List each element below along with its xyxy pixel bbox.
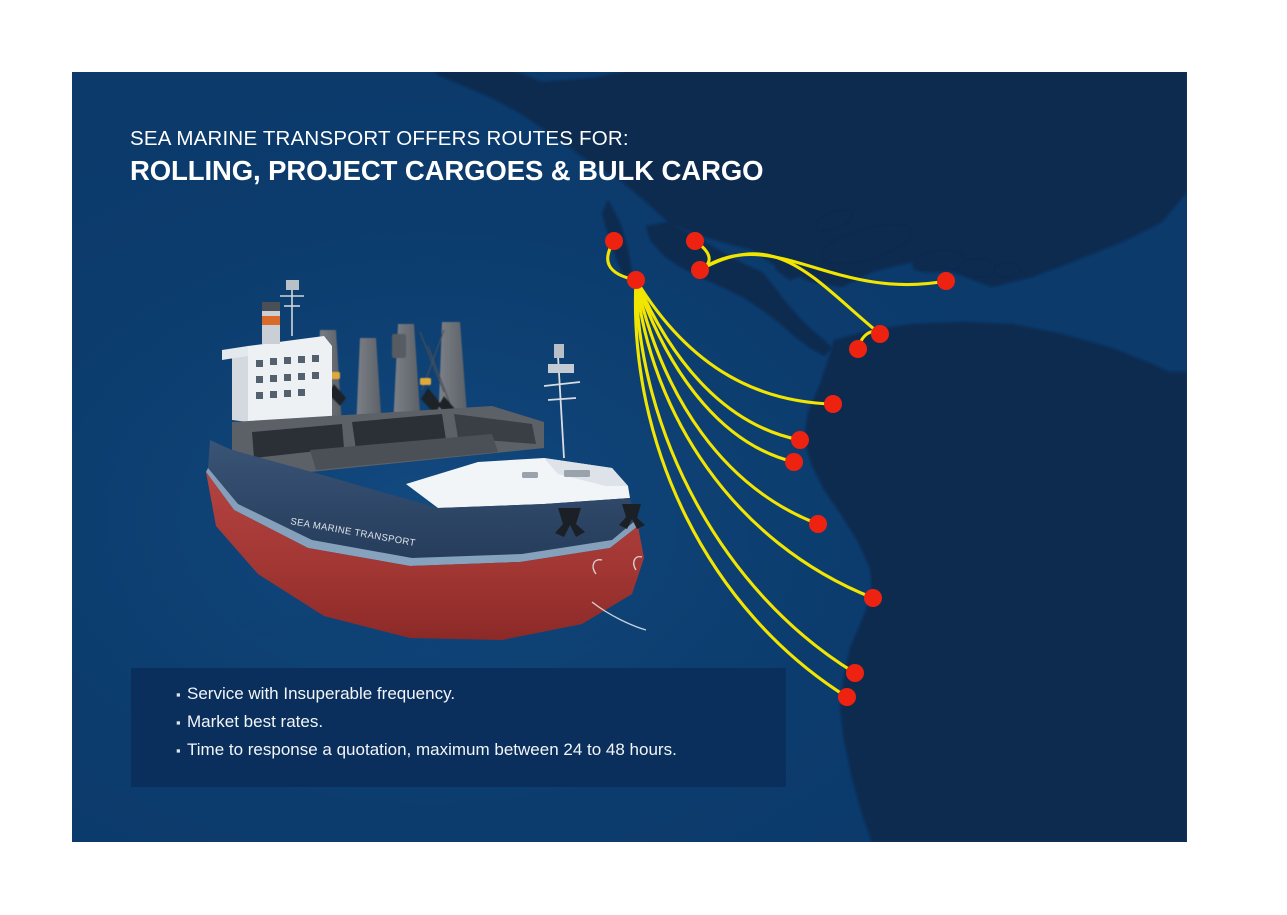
ship-illustration: SEA MARINE TRANSPORT [192, 272, 652, 692]
port-venezuela-east[interactable] [871, 325, 889, 343]
list-item: ▪ Market best rates. [176, 713, 677, 730]
list-item: ▪ Service with Insuperable frequency. [176, 685, 677, 702]
bullet-glyph-icon: ▪ [176, 716, 187, 729]
bullet-glyph-icon: ▪ [176, 688, 187, 701]
feature-text: Time to response a quotation, maximum be… [187, 741, 677, 758]
title-block: SEA MARINE TRANSPORT OFFERS ROUTES FOR: … [130, 126, 763, 187]
port-chile-central[interactable] [838, 688, 856, 706]
port-chile-north[interactable] [846, 664, 864, 682]
feature-text: Market best rates. [187, 713, 323, 730]
poster-canvas: SEA MARINE TRANSPORT SEA MARINE TRANSPOR… [0, 0, 1287, 915]
port-peru-central[interactable] [809, 515, 827, 533]
features-box: ▪ Service with Insuperable frequency. ▪ … [131, 668, 786, 787]
headline-text: ROLLING, PROJECT CARGOES & BULK CARGO [130, 154, 763, 188]
bullet-glyph-icon: ▪ [176, 744, 187, 757]
kicker-text: SEA MARINE TRANSPORT OFFERS ROUTES FOR: [130, 126, 763, 152]
port-ecuador-north[interactable] [824, 395, 842, 413]
main-panel: SEA MARINE TRANSPORT SEA MARINE TRANSPOR… [72, 72, 1187, 842]
port-gulf-north[interactable] [686, 232, 704, 250]
port-peru-north[interactable] [785, 453, 803, 471]
port-peru-south[interactable] [864, 589, 882, 607]
features-list: ▪ Service with Insuperable frequency. ▪ … [176, 685, 677, 769]
ship-superstructure [222, 280, 332, 422]
port-gulf-hub[interactable] [691, 261, 709, 279]
port-caribbean-east[interactable] [937, 272, 955, 290]
feature-text: Service with Insuperable frequency. [187, 685, 455, 702]
port-colombia-north[interactable] [849, 340, 867, 358]
port-ecuador-south[interactable] [791, 431, 809, 449]
port-baja-west[interactable] [605, 232, 623, 250]
list-item: ▪ Time to response a quotation, maximum … [176, 741, 677, 758]
